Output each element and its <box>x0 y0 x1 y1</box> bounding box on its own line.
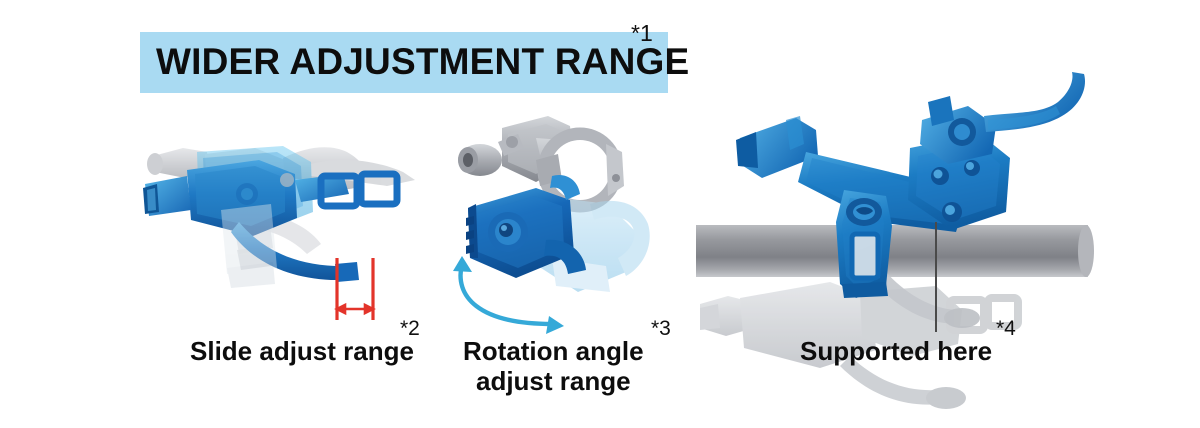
page-title: WIDER ADJUSTMENT RANGE <box>156 38 689 86</box>
ghost-overlay-front <box>221 204 277 288</box>
curved-double-arrow-icon <box>461 264 552 324</box>
caption-rotation-adjust-range: Rotation angle adjust range *3 <box>463 336 644 396</box>
illustration-slide-adjust <box>135 118 425 318</box>
caption-supported-line1: Supported here <box>800 336 992 366</box>
caption-rotation-footnote-marker: *3 <box>651 318 671 339</box>
caption-rotation-line1: Rotation angle <box>463 336 644 366</box>
handlebar-tube <box>696 225 1094 277</box>
rotation-range-arc-arrow <box>448 248 578 340</box>
caption-slide-line1: Slide adjust range <box>190 336 414 366</box>
caption-rotation-line2: adjust range <box>463 366 644 396</box>
illustration-handlebar-mount <box>700 72 1100 332</box>
slide-range-dimension-marker <box>331 258 379 320</box>
double-headed-arrow-icon <box>337 305 373 313</box>
caption-slide-footnote-marker: *2 <box>400 318 420 339</box>
caption-slide-adjust-range: Slide adjust range *2 <box>190 336 414 366</box>
diagram-canvas: WIDER ADJUSTMENT RANGE *1 <box>0 0 1200 428</box>
title-footnote-marker: *1 <box>631 22 653 45</box>
supported-here-leader-line <box>935 222 937 332</box>
caption-supported-here: Supported here *4 <box>800 336 992 366</box>
caption-supported-footnote-marker: *4 <box>996 318 1016 339</box>
